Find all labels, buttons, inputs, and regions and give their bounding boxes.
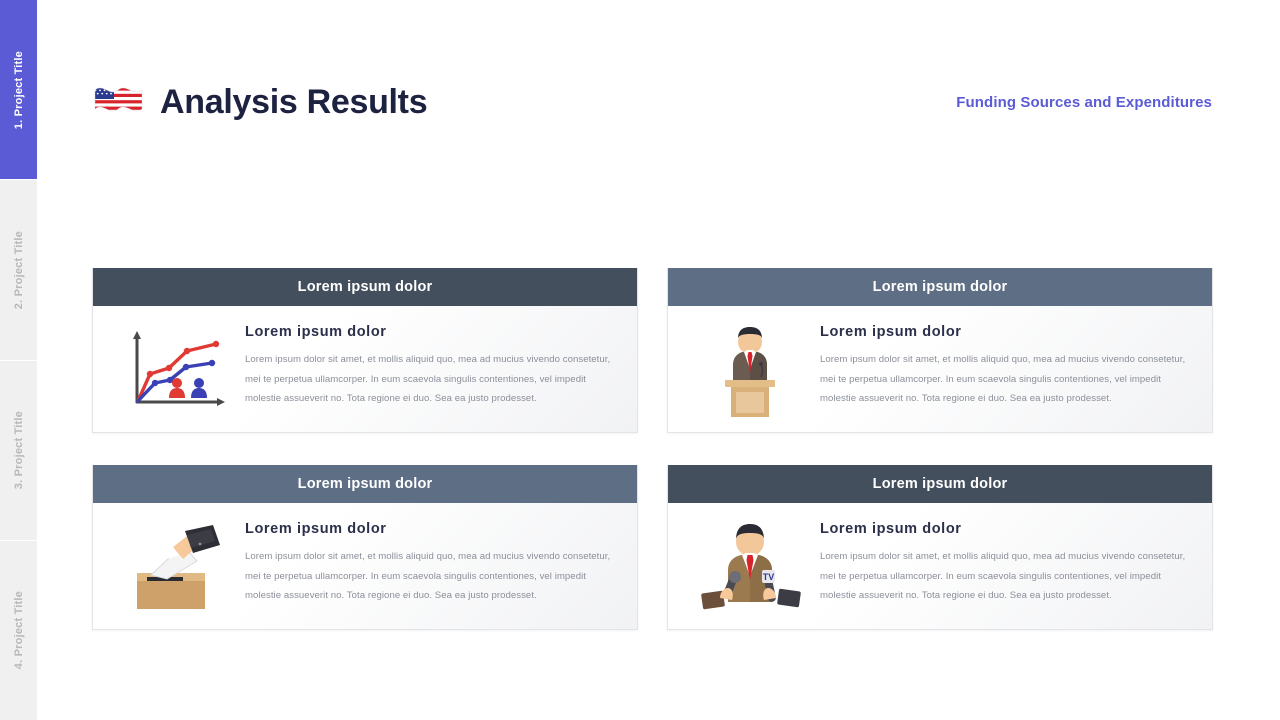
speaker-podium-icon [694,322,806,418]
card-3[interactable]: Lorem ipsum dolor [92,465,638,630]
presentation-slide: 1. Project Title 2. Project Title 3. Pro… [0,0,1280,720]
card-text: Lorem ipsum dolor Lorem ipsum dolor sit … [231,519,619,606]
card-header-label: Lorem ipsum dolor [668,465,1212,503]
title-group: Analysis Results [92,81,427,123]
press-interview-icon: TV [694,519,806,615]
card-grid: Lorem ipsum dolor [92,268,1213,630]
card-body: TV Lorem ipsum dolor Lorem ipsum dolor s… [668,503,1212,629]
sidebar-item-2[interactable]: 2. Project Title [0,180,37,360]
card-heading: Lorem ipsum dolor [820,521,1194,537]
card-heading: Lorem ipsum dolor [245,324,619,340]
card-description: Lorem ipsum dolor sit amet, et mollis al… [820,350,1194,409]
slide-header: Analysis Results Funding Sources and Exp… [92,74,1212,130]
card-heading: Lorem ipsum dolor [245,521,619,537]
sidebar-item-4[interactable]: 4. Project Title [0,541,37,720]
card-header-label: Lorem ipsum dolor [93,268,637,306]
card-4[interactable]: Lorem ipsum dolor [667,465,1213,630]
card-header-label: Lorem ipsum dolor [93,465,637,503]
card-1[interactable]: Lorem ipsum dolor [92,268,638,433]
card-body: Lorem ipsum dolor Lorem ipsum dolor sit … [93,306,637,432]
card-heading: Lorem ipsum dolor [820,324,1194,340]
line-chart-voters-icon [119,322,231,418]
card-description: Lorem ipsum dolor sit amet, et mollis al… [245,350,619,409]
sidebar-item-label: 1. Project Title [13,51,25,129]
card-text: Lorem ipsum dolor Lorem ipsum dolor sit … [806,519,1194,606]
usa-flag-icon [92,81,146,123]
sidebar-item-label: 2. Project Title [13,231,25,309]
svg-text:TV: TV [763,572,775,582]
card-2[interactable]: Lorem ipsum dolor [667,268,1213,433]
sidebar-item-label: 4. Project Title [13,591,25,669]
header-subtitle: Funding Sources and Expenditures [956,94,1212,111]
card-description: Lorem ipsum dolor sit amet, et mollis al… [820,547,1194,606]
card-body: Lorem ipsum dolor Lorem ipsum dolor sit … [668,306,1212,432]
sidebar-item-label: 3. Project Title [13,411,25,489]
card-header-label: Lorem ipsum dolor [668,268,1212,306]
card-body: Lorem ipsum dolor Lorem ipsum dolor sit … [93,503,637,629]
sidebar-item-3[interactable]: 3. Project Title [0,361,37,541]
card-text: Lorem ipsum dolor Lorem ipsum dolor sit … [806,322,1194,409]
sidebar-nav: 1. Project Title 2. Project Title 3. Pro… [0,0,37,720]
card-description: Lorem ipsum dolor sit amet, et mollis al… [245,547,619,606]
page-title: Analysis Results [160,83,427,122]
ballot-box-vote-icon [119,519,231,615]
sidebar-item-1[interactable]: 1. Project Title [0,0,37,180]
card-text: Lorem ipsum dolor Lorem ipsum dolor sit … [231,322,619,409]
